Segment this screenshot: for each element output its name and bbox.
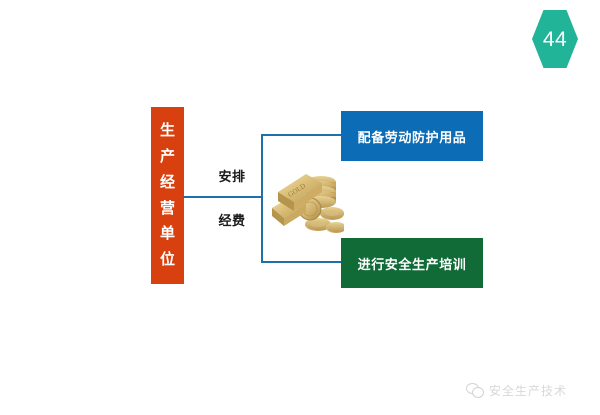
connector-source-to-junction [183,196,263,198]
action-label-line-2: 经费 [218,214,245,228]
source-node-production-entity: 生 产 经 营 单 位 [151,107,184,284]
source-char-0: 生 [160,118,175,144]
gold-bars-and-coins-image: GOLD [266,156,344,240]
outcome-node-ppe: 配备劳动防护用品 [341,111,483,161]
watermark-text: 安全生产技术 [489,382,567,399]
source-char-2: 经 [160,170,175,196]
action-label-line-1: 安排 [218,170,245,184]
outcome-node-training: 进行安全生产培训 [341,238,483,288]
watermark: 安全生产技术 [466,382,567,399]
wechat-bubble-front [472,387,484,398]
connector-vertical-spine [261,134,263,263]
page-number-badge: 44 [532,10,578,68]
source-char-4: 单 [160,221,175,247]
wechat-icon [466,383,483,398]
slide-canvas: 44 生 产 经 营 单 位 安排 经费 [0,0,600,415]
source-char-3: 营 [160,196,175,222]
connector-to-outcome-1 [261,134,342,136]
source-char-1: 产 [160,144,175,170]
outcome-label-1: 配备劳动防护用品 [358,127,467,146]
page-number-label: 44 [543,29,567,50]
source-char-5: 位 [160,247,175,273]
action-label: 安排 经费 [204,168,260,230]
outcome-label-2: 进行安全生产培训 [358,254,467,273]
connector-to-outcome-2 [261,261,342,263]
